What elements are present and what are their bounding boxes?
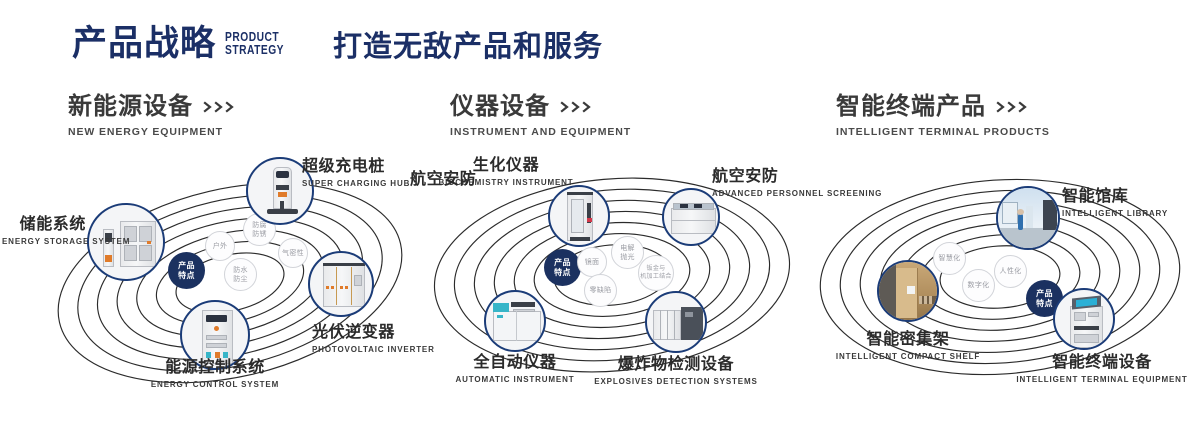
label-automatic-instrument: 全自动仪器 AUTOMATIC INSTRUMENT [425, 353, 605, 385]
node-biochemistry-instrument[interactable] [548, 185, 610, 247]
node-automatic-instrument[interactable] [484, 290, 546, 352]
node-explosives-detection-systems[interactable] [645, 291, 707, 353]
feature-bubble: 人性化 [994, 255, 1027, 288]
feature-bubble: 防水 防尘 [224, 258, 257, 291]
page-title: 产品战略 PRODUCT STRATEGY [72, 26, 297, 61]
feature-bubble: 智慧化 [933, 242, 966, 275]
label-intelligent-library: 智能馆库 INTELLIGENT LIBRARY [1062, 187, 1168, 219]
feature-bubble: 气密性 [278, 238, 308, 268]
feature-bubble: 镜面 [577, 247, 607, 277]
core-bubble: 产品 特点 [168, 252, 205, 289]
terminal-equipment-artwork [1055, 290, 1113, 348]
page-title-en-line2: STRATEGY [225, 44, 284, 57]
feature-bubble: 零缺陷 [584, 274, 617, 307]
pv-inverter-artwork [310, 253, 372, 315]
page-title-cn: 产品战略 [72, 26, 216, 61]
section-title-new-energy: 新能源设备 NEW ENERGY EQUIPMENT [68, 95, 237, 138]
label-energy-storage-system: 储能系统 ENERGY STORAGE SYSTEM [2, 215, 86, 247]
label-energy-control-system: 能源控制系统 ENERGY CONTROL SYSTEM [85, 358, 345, 390]
feature-bubble: 数字化 [962, 269, 995, 302]
explosives-detection-artwork [647, 293, 705, 351]
compact-shelf-artwork [879, 262, 937, 320]
intelligent-library-artwork [998, 188, 1058, 248]
node-intelligent-compact-shelf[interactable] [877, 260, 939, 322]
cluster-instrument: 产品 特点 镜面 电解 抛光 零缺陷 钣金与 机加工结合 [412, 155, 812, 405]
cluster-intelligent-terminal: 产品 特点 智慧化 数字化 人性化 智能馆库 [800, 155, 1200, 405]
node-intelligent-library[interactable] [996, 186, 1060, 250]
page-subtitle: 打造无敌产品和服务 [333, 32, 603, 64]
section-title-intelligent-terminal: 智能终端产品 INTELLIGENT TERMINAL PRODUCTS [836, 95, 1050, 138]
section-title-cn: 智能终端产品 [836, 95, 1050, 119]
core-bubble: 产品 特点 [544, 249, 581, 286]
screening-artwork [664, 190, 718, 244]
label-aviation-security-left: 航空安防 [410, 170, 476, 189]
label-intelligent-terminal-equipment: 智能终端设备 INTELLIGENT TERMINAL EQUIPMENT [1012, 353, 1192, 385]
section-title-en: INTELLIGENT TERMINAL PRODUCTS [836, 126, 1050, 138]
chevron-right-icon [203, 101, 237, 113]
section-title-instrument: 仪器设备 INSTRUMENT AND EQUIPMENT [450, 95, 631, 138]
chevron-right-icon [996, 101, 1030, 113]
cluster-new-energy: 产品 特点 户外 防腐 防锈 防水 防尘 气密性 [30, 155, 430, 405]
node-photovoltaic-inverter[interactable] [308, 251, 374, 317]
section-title-en: NEW ENERGY EQUIPMENT [68, 126, 237, 138]
section-title-cn: 新能源设备 [68, 95, 237, 119]
automatic-instrument-artwork [486, 292, 544, 350]
page-title-en-line1: PRODUCT [225, 31, 284, 44]
section-title-en: INSTRUMENT AND EQUIPMENT [450, 126, 631, 138]
page-title-en: PRODUCT STRATEGY [225, 31, 284, 56]
feature-bubble: 钣金与 机加工结合 [638, 255, 674, 291]
section-title-cn: 仪器设备 [450, 95, 631, 119]
chevron-right-icon [560, 101, 594, 113]
label-explosives-detection-systems: 爆炸物检测设备 EXPLOSIVES DETECTION SYSTEMS [586, 355, 766, 387]
label-super-charging-hub: 超级充电桩 SUPER CHARGING HUB [302, 157, 410, 189]
biochemistry-artwork [550, 187, 608, 245]
product-strategy-infographic: 产品战略 PRODUCT STRATEGY 打造无敌产品和服务 新能源设备 NE… [0, 0, 1200, 422]
label-intelligent-compact-shelf: 智能密集架 INTELLIGENT COMPACT SHELF [818, 330, 998, 362]
feature-bubble: 户外 [205, 231, 235, 261]
node-intelligent-terminal-equipment[interactable] [1053, 288, 1115, 350]
